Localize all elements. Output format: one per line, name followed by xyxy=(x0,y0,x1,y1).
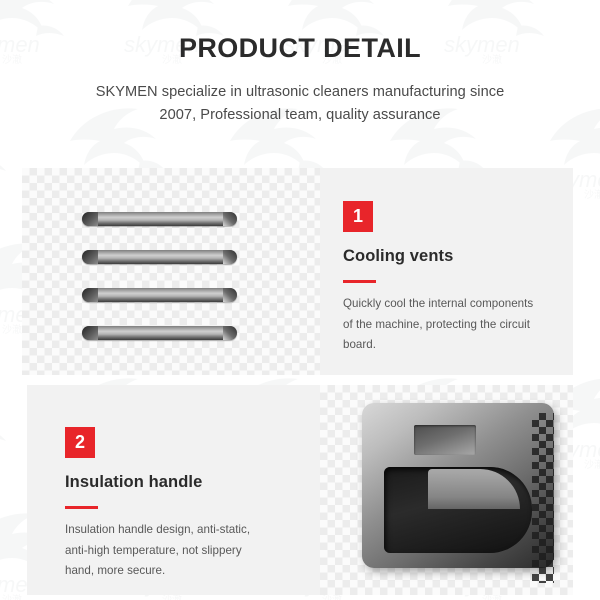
section-1-description: Quickly cool the internal components of … xyxy=(343,294,546,356)
product-detail-page: PRODUCT DETAIL SKYMEN specialize in ultr… xyxy=(0,0,600,600)
handle-body xyxy=(362,403,554,568)
section-2-divider xyxy=(65,506,98,509)
section-2-title: Insulation handle xyxy=(65,473,202,492)
section-2-text-block: 2 Insulation handle Insulation handle de… xyxy=(65,385,305,595)
page-subtitle-line-1: SKYMEN specialize in ultrasonic cleaners… xyxy=(0,81,600,105)
cooling-vents-photo xyxy=(22,168,320,375)
handle-textured-edge xyxy=(532,413,554,583)
insulation-handle-photo xyxy=(320,385,573,595)
page-header: PRODUCT DETAIL SKYMEN specialize in ultr… xyxy=(0,0,600,128)
section-2-description: Insulation handle design, anti-static, a… xyxy=(65,520,265,582)
vent-slot xyxy=(82,288,237,302)
photo-diamond-pattern xyxy=(22,168,320,375)
page-subtitle-line-2: 2007, Professional team, quality assuran… xyxy=(0,104,600,128)
vent-slot xyxy=(82,212,237,226)
section-insulation-handle: 2 Insulation handle Insulation handle de… xyxy=(0,385,600,595)
section-2-number-badge: 2 xyxy=(65,427,95,458)
section-1-divider xyxy=(343,280,376,283)
page-subtitle: SKYMEN specialize in ultrasonic cleaners… xyxy=(0,64,600,128)
vent-slot xyxy=(82,250,237,264)
vent-slot xyxy=(82,326,237,340)
page-title: PRODUCT DETAIL xyxy=(0,0,600,64)
section-cooling-vents: 1 Cooling vents Quickly cool the interna… xyxy=(0,168,600,375)
handle-window xyxy=(414,425,476,455)
section-1-number-badge: 1 xyxy=(343,201,373,232)
section-1-title: Cooling vents xyxy=(343,247,453,266)
section-1-text-block: 1 Cooling vents Quickly cool the interna… xyxy=(343,168,573,375)
